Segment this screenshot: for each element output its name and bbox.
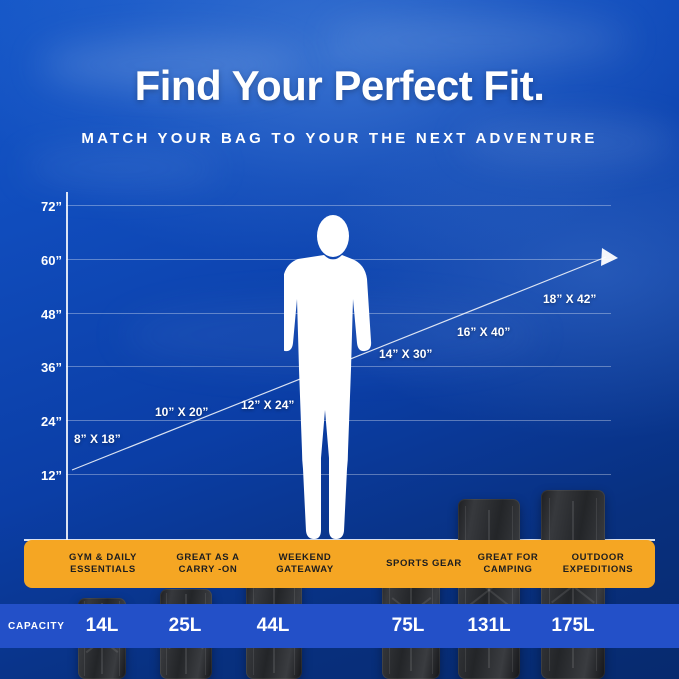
y-tick-label-36: 36” [22, 360, 62, 375]
use-case-band: GYM & DAILY ESSENTIALS GREAT AS A CARRY … [24, 540, 655, 588]
y-axis [66, 192, 68, 540]
y-tick-label-24: 24” [22, 414, 62, 429]
bar-dimension-label-5: 18” X 42” [543, 292, 596, 306]
use-case-cell-1: GREAT AS A CARRY -ON [158, 540, 258, 588]
use-case-cell-2: WEEKEND GATEAWAY [252, 540, 358, 588]
bar-4[interactable] [458, 499, 520, 679]
human-silhouette-icon [284, 210, 382, 540]
bar-dimension-label-4: 16” X 40” [457, 325, 510, 339]
use-case-cell-5: OUTDOOR EXPEDITIONS [542, 540, 654, 588]
capacity-value-5: 175L [540, 604, 606, 648]
bar-dimension-label-1: 10” X 20” [155, 405, 208, 419]
capacity-value-0: 14L [72, 604, 132, 648]
y-tick-label-72: 72” [22, 199, 62, 214]
capacity-value-2: 44L [243, 604, 303, 648]
y-tick-label-48: 48” [22, 307, 62, 322]
capacity-value-1: 25L [155, 604, 215, 648]
bar-dimension-label-0: 8” X 18” [74, 432, 121, 446]
bar-dimension-label-3: 14” X 30” [379, 347, 432, 361]
infographic-root: Find Your Perfect Fit. MATCH YOUR BAG TO… [0, 0, 679, 679]
capacity-value-4: 131L [457, 604, 521, 648]
capacity-value-3: 75L [378, 604, 438, 648]
bar-dimension-label-2: 12” X 24” [241, 398, 294, 412]
y-tick-label-60: 60” [22, 253, 62, 268]
capacity-label: CAPACITY [8, 604, 65, 648]
y-tick-label-12: 12” [22, 468, 62, 483]
use-case-cell-0: GYM & DAILY ESSENTIALS [48, 540, 158, 588]
gridline-72 [66, 205, 611, 206]
